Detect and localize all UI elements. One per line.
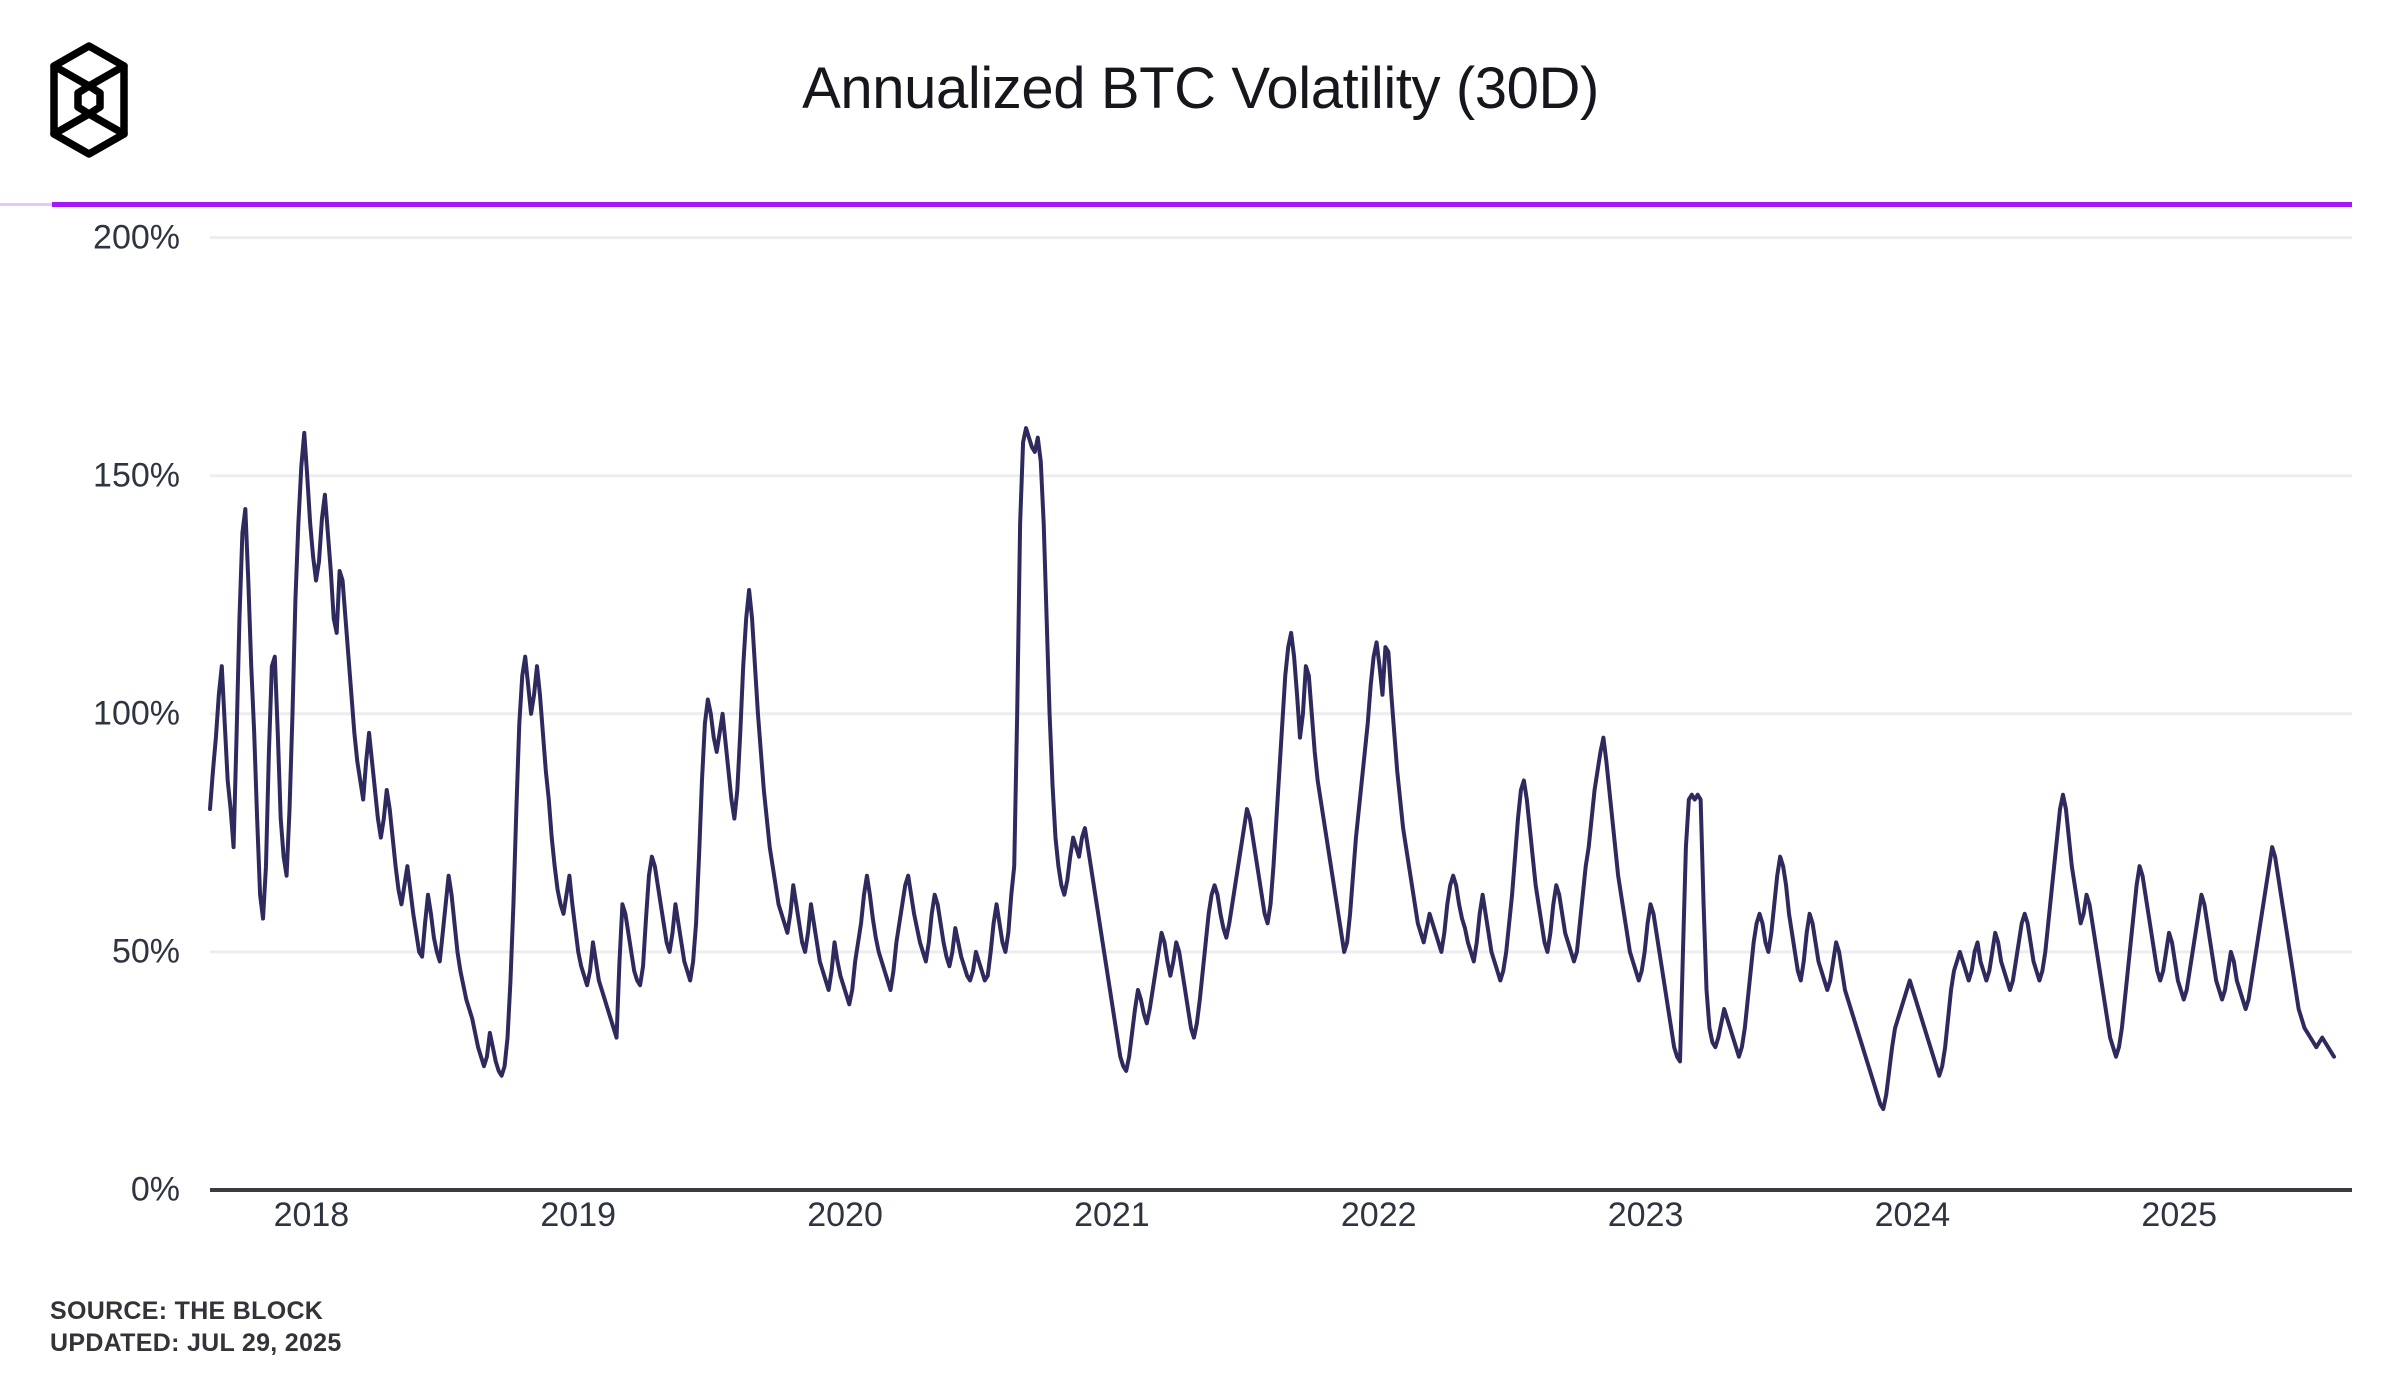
volatility-line-chart <box>0 210 2401 1210</box>
x-tick-label: 2019 <box>540 1196 616 1235</box>
title-divider <box>52 202 2352 207</box>
chart-plot-area: 0%50%100%150%200% <box>0 210 2401 1210</box>
x-axis-labels: 20182019202020212022202320242025 <box>0 0 2401 90</box>
x-tick-label: 2023 <box>1608 1196 1684 1235</box>
x-tick-label: 2018 <box>274 1196 350 1235</box>
updated-label: UPDATED: JUL 29, 2025 <box>50 1328 342 1360</box>
x-tick-label: 2021 <box>1074 1196 1150 1235</box>
x-tick-label: 2022 <box>1341 1196 1417 1235</box>
chart-footer: SOURCE: THE BLOCK UPDATED: JUL 29, 2025 <box>50 1296 342 1359</box>
title-divider-ghost <box>0 203 52 206</box>
series-line <box>210 428 2334 1109</box>
x-tick-label: 2024 <box>1875 1196 1951 1235</box>
x-tick-label: 2025 <box>2141 1196 2217 1235</box>
x-tick-label: 2020 <box>807 1196 883 1235</box>
source-label: SOURCE: THE BLOCK <box>50 1296 342 1328</box>
